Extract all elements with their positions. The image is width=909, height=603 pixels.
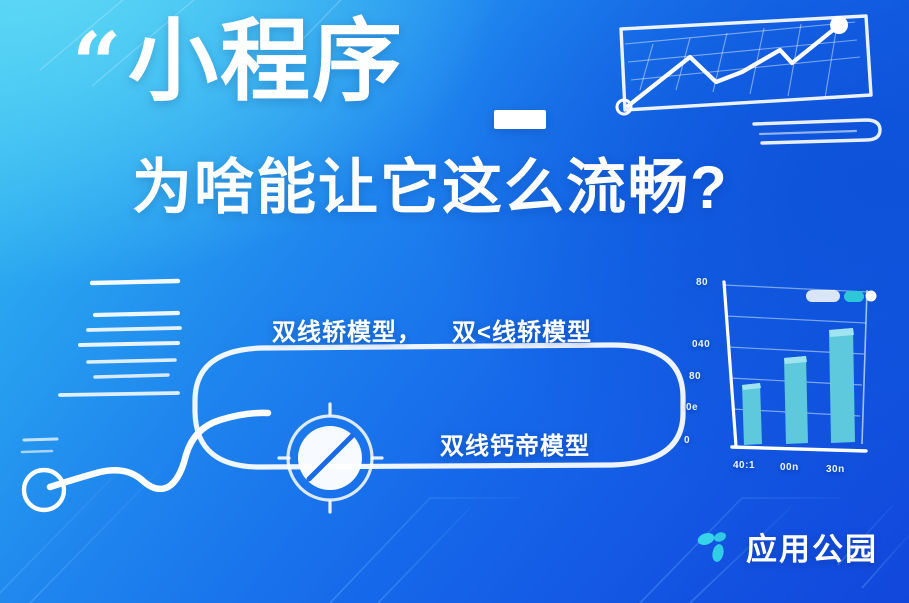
bar-2 — [829, 328, 855, 443]
bar-0 — [742, 383, 762, 445]
bar-chart: 0 0e 80 040 80 40:1 00n 30n — [688, 268, 900, 500]
sketch-label-b: 双˂线轿模型 — [452, 312, 592, 347]
sketch-label-a: 双线轿模型， — [272, 312, 422, 347]
poster-canvas: “ 小程序 为啥能让它这么流畅? — [0, 0, 909, 603]
chart-ytick-4: 80 — [696, 277, 708, 288]
legend-pill — [806, 290, 840, 302]
chart-ytick-1: 0e — [686, 402, 698, 413]
sketch-text-lines — [22, 281, 180, 452]
sketch-label-c: 双线钙帝模型 — [440, 426, 590, 461]
chart-x-axis — [732, 447, 866, 451]
headline-line-1: 小程序 — [128, 16, 404, 110]
chart-ytick-2: 80 — [689, 371, 701, 382]
headline-dash — [494, 110, 546, 129]
capsule-outline — [195, 345, 683, 467]
chart-ytick-0: 0 — [684, 435, 690, 446]
headline-block: “ 小程序 为啥能让它这么流畅? — [0, 0, 909, 240]
dial-outer-ring — [288, 416, 372, 500]
squiggle-endpoint-circle — [24, 470, 64, 510]
chart-ytick-3: 040 — [692, 339, 710, 350]
chart-y-axis — [724, 282, 736, 446]
legend-dot — [866, 291, 877, 302]
chart-xtick-0: 40:1 — [733, 460, 755, 471]
legend-toggle — [844, 291, 864, 302]
dial-face — [298, 426, 362, 490]
bar-1 — [784, 356, 808, 444]
leaf-mark-icon — [697, 528, 735, 566]
chart-xtick-1: 00n — [780, 462, 799, 473]
brand-name: 应用公园 — [746, 524, 878, 569]
quote-mark-icon: “ — [72, 22, 117, 108]
dial-needle — [309, 436, 352, 479]
brand-logo: 应用公园 — [697, 524, 878, 569]
headline-line-2: 为啥能让它这么流畅? — [132, 155, 729, 221]
squiggle-path — [50, 413, 268, 489]
dial-ticks — [279, 404, 382, 512]
chart-xtick-2: 30n — [826, 464, 845, 475]
chart-bars — [742, 328, 855, 445]
